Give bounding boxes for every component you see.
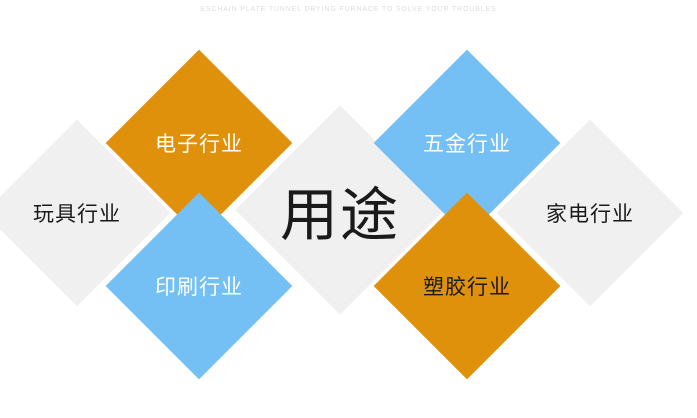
diamond-cluster: 玩具行业 电子行业 印刷行业 用途 五金行业 塑胶行业 (0, 20, 697, 414)
infographic-canvas: ESCHAIN PLATE TUNNEL DRYING FURNACE TO S… (0, 0, 697, 414)
header-tagline: ESCHAIN PLATE TUNNEL DRYING FURNACE TO S… (0, 5, 697, 15)
